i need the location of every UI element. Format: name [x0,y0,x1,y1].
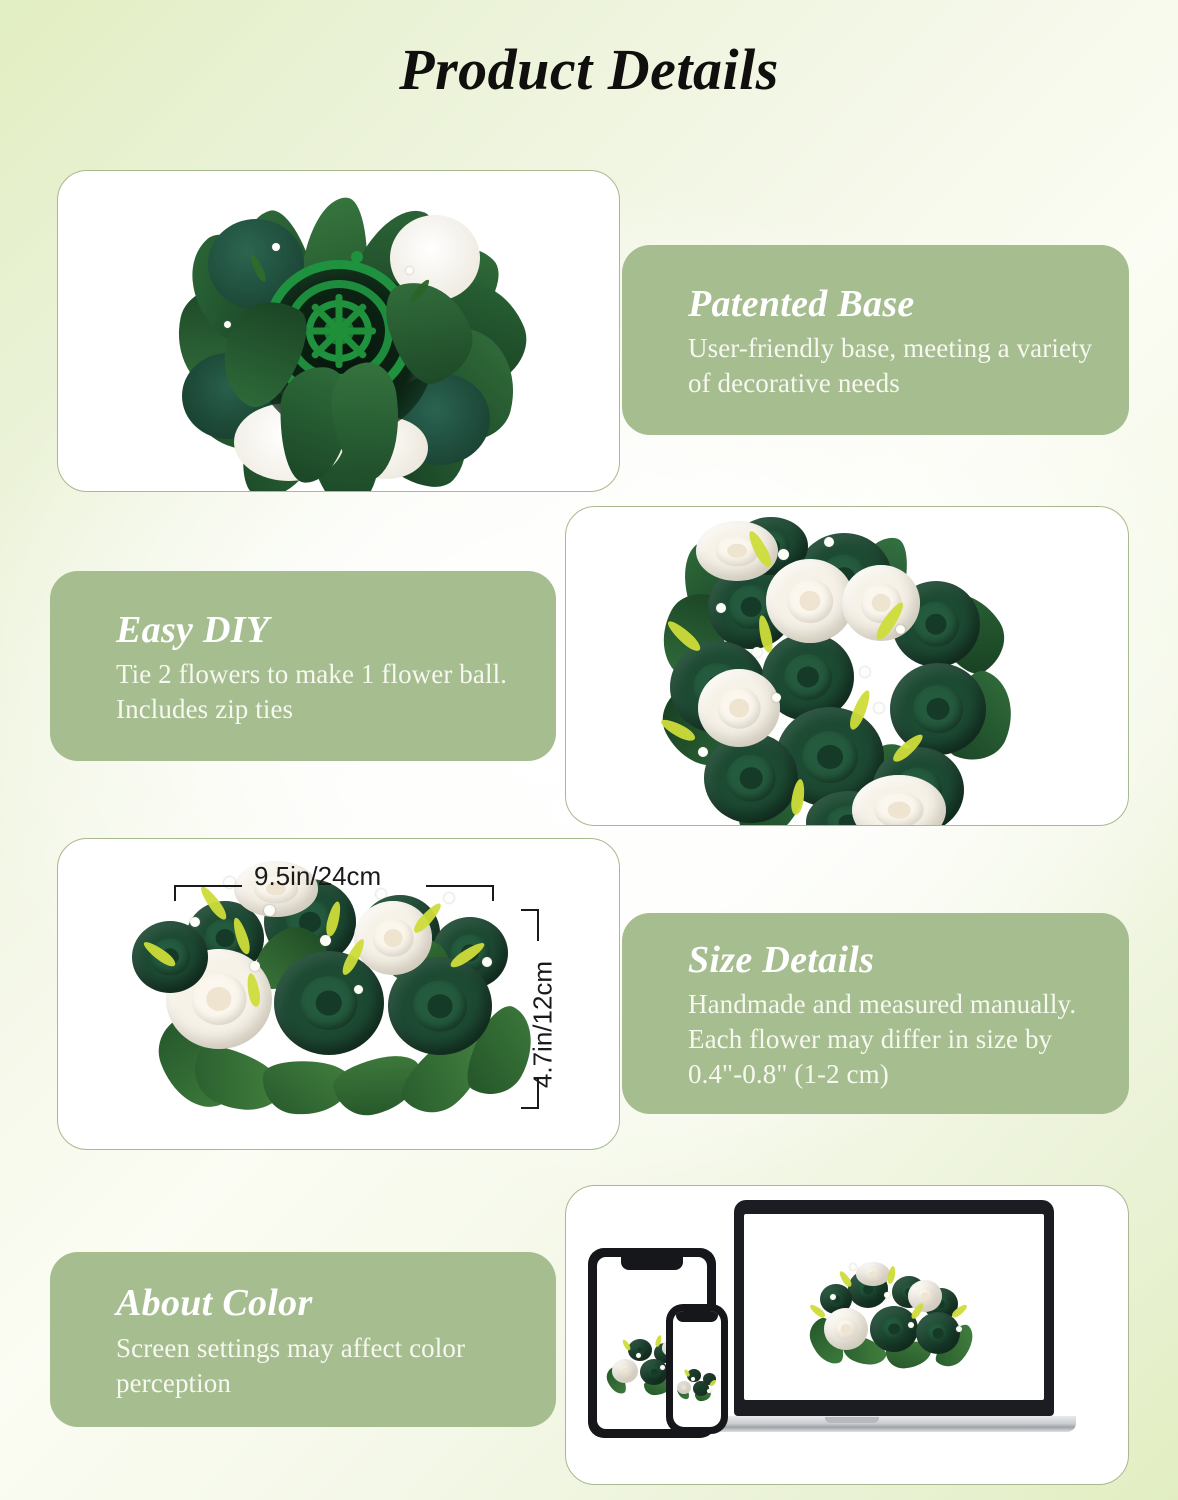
flower-ball-base-underside-illustration [58,171,619,491]
panel-body-easy-diy: Tie 2 flowers to make 1 flower ball. Inc… [116,657,522,727]
image-card-flower-ball [565,506,1129,826]
phone-screen [673,1311,721,1427]
flower-ball-illustration [566,507,1128,825]
panel-title-about-color: About Color [116,1282,522,1325]
laptop-trackpad-notch [825,1417,879,1423]
height-dimension-label: 4.7in/12cm [528,940,559,1110]
devices-illustration [566,1186,1128,1484]
image-card-devices [565,1185,1129,1485]
panel-title-easy-diy: Easy DIY [116,609,522,652]
text-panel-about-color: About Color Screen settings may affect c… [50,1252,556,1427]
text-panel-easy-diy: Easy DIY Tie 2 flowers to make 1 flower … [50,571,556,761]
panel-body-about-color: Screen settings may affect color percept… [116,1331,522,1401]
panel-body-size-details: Handmade and measured manually. Each flo… [688,987,1095,1092]
laptop-screen [744,1214,1044,1400]
page-title: Product Details [0,36,1178,103]
panel-title-patented-base: Patented Base [688,283,1095,326]
image-card-size-details: 9.5in/24cm 4.7in/12cm [57,838,620,1150]
text-panel-patented-base: Patented Base User-friendly base, meetin… [622,245,1129,435]
panel-title-size-details: Size Details [688,939,1095,982]
phone-device [666,1304,728,1434]
product-details-page: Product Details [0,0,1178,1500]
laptop-device [734,1200,1054,1416]
phone-camera-notch [676,1311,718,1322]
panel-body-patented-base: User-friendly base, meeting a variety of… [688,331,1095,401]
width-dimension-label: 9.5in/24cm [254,861,381,892]
image-card-patented-base [57,170,620,492]
text-panel-size-details: Size Details Handmade and measured manua… [622,913,1129,1114]
flower-arrangement-illustration: 9.5in/24cm 4.7in/12cm [58,839,619,1149]
laptop-base [712,1416,1076,1432]
tablet-camera-notch [621,1257,683,1270]
